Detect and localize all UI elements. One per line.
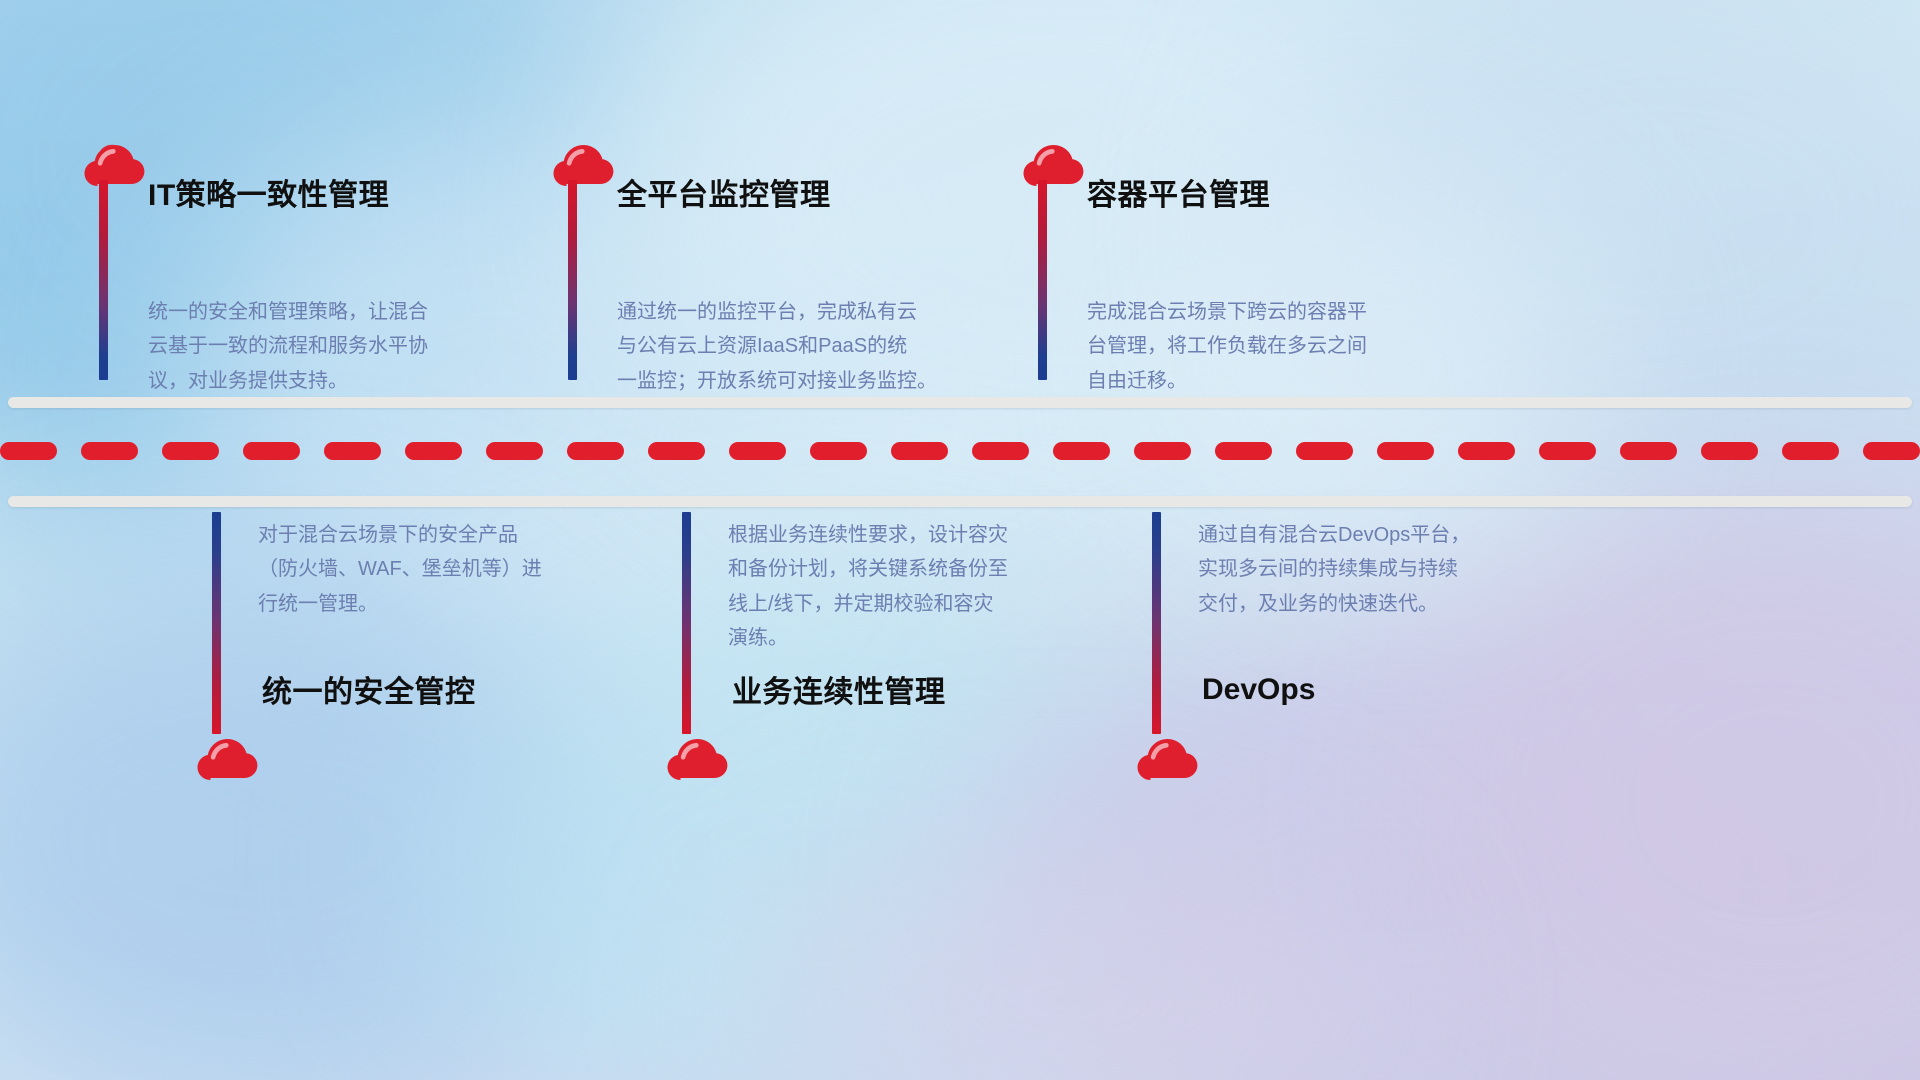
road-dash	[0, 442, 57, 460]
body-line: 议，对业务提供支持。	[148, 364, 578, 398]
body-line: 通过统一的监控平台，完成私有云	[617, 295, 1047, 329]
cloud-marker-icon	[545, 132, 617, 188]
road-edge-bottom	[8, 496, 1912, 507]
cloud-marker-icon	[1129, 726, 1201, 782]
road-dash	[1377, 442, 1434, 460]
road-dash	[162, 442, 219, 460]
stem-line	[1152, 512, 1161, 734]
body-line: 实现多云间的持续集成与持续	[1198, 552, 1628, 586]
road-dash	[1053, 442, 1110, 460]
road-dash	[405, 442, 462, 460]
card-title: IT策略一致性管理	[148, 179, 389, 212]
card-body: 对于混合云场景下的安全产品 （防火墙、WAF、堡垒机等）进 行统一管理。	[258, 518, 688, 621]
body-line: 一监控；开放系统可对接业务监控。	[617, 364, 1047, 398]
card-title: 容器平台管理	[1087, 179, 1270, 212]
card-body: 完成混合云场景下跨云的容器平 台管理，将工作负载在多云之间 自由迁移。	[1087, 295, 1517, 398]
body-line: 自由迁移。	[1087, 364, 1517, 398]
body-line: 行统一管理。	[258, 587, 688, 621]
stem-line	[1038, 180, 1047, 380]
card-body: 统一的安全和管理策略，让混合 云基于一致的流程和服务水平协 议，对业务提供支持。	[148, 295, 578, 398]
road-dash	[567, 442, 624, 460]
stem-line	[682, 512, 691, 734]
card-title: 统一的安全管控	[262, 676, 476, 709]
road-edge-top	[8, 397, 1912, 408]
road-dashed-centerline	[0, 442, 1920, 460]
body-line: 与公有云上资源IaaS和PaaS的统	[617, 329, 1047, 363]
stem-line	[212, 512, 221, 734]
road-dash	[1701, 442, 1758, 460]
body-line: 云基于一致的流程和服务水平协	[148, 329, 578, 363]
body-line: 统一的安全和管理策略，让混合	[148, 295, 578, 329]
road-dash	[1539, 442, 1596, 460]
road-dash	[243, 442, 300, 460]
body-line: 线上/线下，并定期校验和容灾	[728, 587, 1158, 621]
card-body: 通过自有混合云DevOps平台， 实现多云间的持续集成与持续 交付，及业务的快速…	[1198, 518, 1628, 621]
cloud-marker-icon	[659, 726, 731, 782]
road-divider	[0, 397, 1920, 507]
body-line: （防火墙、WAF、堡垒机等）进	[258, 552, 688, 586]
road-dash	[891, 442, 948, 460]
road-dash	[810, 442, 867, 460]
road-dash	[1863, 442, 1920, 460]
road-dash	[648, 442, 705, 460]
card-body: 通过统一的监控平台，完成私有云 与公有云上资源IaaS和PaaS的统 一监控；开…	[617, 295, 1047, 398]
body-line: 台管理，将工作负载在多云之间	[1087, 329, 1517, 363]
road-dash	[1296, 442, 1353, 460]
body-line: 交付，及业务的快速迭代。	[1198, 587, 1628, 621]
cloud-marker-icon	[189, 726, 261, 782]
stem-line	[99, 180, 108, 380]
road-dash	[1134, 442, 1191, 460]
body-line: 完成混合云场景下跨云的容器平	[1087, 295, 1517, 329]
road-dash	[972, 442, 1029, 460]
card-title: 全平台监控管理	[617, 179, 831, 212]
road-dash	[1215, 442, 1272, 460]
road-dash	[1782, 442, 1839, 460]
body-line: 通过自有混合云DevOps平台，	[1198, 518, 1628, 552]
body-line: 对于混合云场景下的安全产品	[258, 518, 688, 552]
body-line: 根据业务连续性要求，设计容灾	[728, 518, 1158, 552]
road-dash	[1620, 442, 1677, 460]
body-line: 演练。	[728, 621, 1158, 655]
card-title: 业务连续性管理	[732, 676, 946, 709]
road-dash	[324, 442, 381, 460]
card-body: 根据业务连续性要求，设计容灾 和备份计划，将关键系统备份至 线上/线下，并定期校…	[728, 518, 1158, 656]
road-dash	[1458, 442, 1515, 460]
card-title: DevOps	[1202, 673, 1315, 706]
stem-line	[568, 180, 577, 380]
road-dash	[486, 442, 543, 460]
cloud-marker-icon	[1015, 132, 1087, 188]
body-line: 和备份计划，将关键系统备份至	[728, 552, 1158, 586]
road-dash	[81, 442, 138, 460]
infographic-canvas: IT策略一致性管理 统一的安全和管理策略，让混合 云基于一致的流程和服务水平协 …	[0, 0, 1920, 1080]
cloud-marker-icon	[76, 132, 148, 188]
road-dash	[729, 442, 786, 460]
